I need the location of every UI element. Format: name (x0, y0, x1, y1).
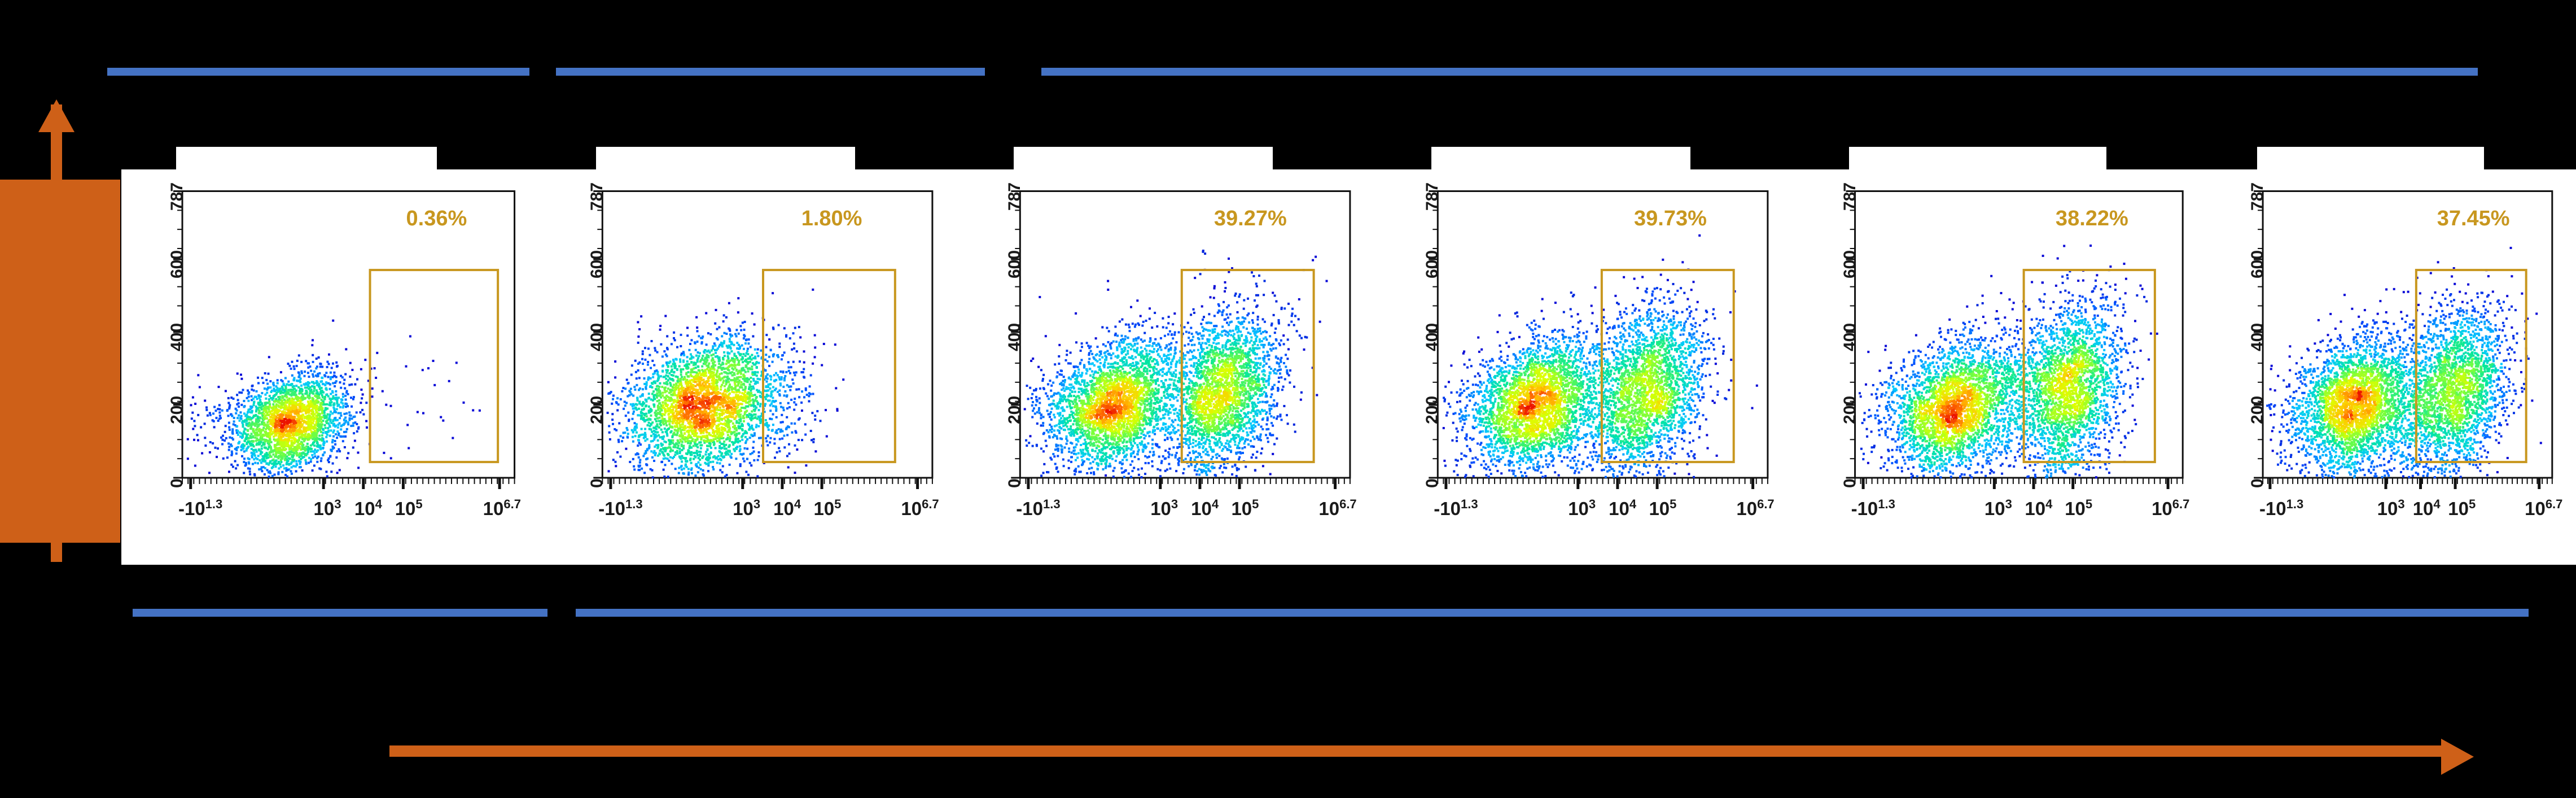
x-tick-base: -10 (1016, 498, 1043, 519)
x-tick-exponent: 4 (2433, 497, 2440, 511)
x-tick-base: 10 (1568, 498, 1589, 519)
y-axis-tick-label: 400 (1423, 323, 1442, 351)
y-axis-tick-label: 200 (1423, 396, 1442, 424)
gate-rectangle[interactable] (370, 270, 498, 462)
x-tick-exponent: 3 (2398, 497, 2404, 511)
flow-plot-panel-3: 0200400600787-101.3103104105106.739.27% (960, 169, 1377, 565)
y-axis-tick-label: 200 (168, 396, 187, 424)
y-axis-tick-label: 600 (1005, 250, 1024, 278)
y-axis-tick-label: 600 (2248, 250, 2267, 278)
flow-plot-panel-2: 0200400600787-101.3103104105106.71.80% (542, 169, 960, 565)
x-tick-base: 10 (483, 498, 504, 519)
x-tick-exponent: 1.3 (625, 497, 643, 511)
x-tick-exponent: 1.3 (1043, 497, 1061, 511)
x-tick-base: 10 (2065, 498, 2086, 519)
top-bar-2 (556, 68, 985, 76)
x-tick-base: -10 (2259, 498, 2286, 519)
y-axis-tick-label: 200 (1841, 396, 1860, 424)
x-tick-base: 10 (1609, 498, 1629, 519)
x-axis-tick-label: 103 (1150, 497, 1178, 520)
density-dots (1859, 245, 2158, 478)
x-tick-base: -10 (1434, 498, 1461, 519)
x-tick-base: 10 (1150, 498, 1171, 519)
x-axis-tick-label: 106.7 (2152, 497, 2189, 520)
x-tick-base: 10 (2377, 498, 2398, 519)
x-tick-base: 10 (2525, 498, 2546, 519)
x-axis-tick-label: 103 (314, 497, 341, 520)
flow-plot-panel-5: 0200400600787-101.3103104105106.738.22% (1795, 169, 2210, 565)
orange-highlight-block (0, 180, 120, 543)
x-tick-base: 10 (1649, 498, 1670, 519)
y-axis-tick-label: 400 (2248, 323, 2267, 351)
x-tick-exponent: 6.7 (503, 497, 521, 511)
y-axis-tick-label: 787 (588, 182, 607, 210)
top-bar-3 (1041, 68, 2478, 76)
x-tick-exponent: 4 (1212, 497, 1219, 511)
x-tick-base: -10 (1851, 498, 1878, 519)
y-axis-tick-label: 0 (1005, 478, 1024, 488)
x-axis-tick-label: 106.7 (483, 497, 521, 520)
horizontal-arrow-head (2441, 739, 2474, 775)
x-axis-tick-label: -101.3 (178, 497, 222, 520)
x-tick-exponent: 1.3 (1461, 497, 1478, 511)
x-axis-tick-label: 103 (1984, 497, 2012, 520)
y-axis-tick-label: 787 (1005, 182, 1024, 210)
x-tick-exponent: 6.7 (2172, 497, 2190, 511)
x-axis-tick-label: -101.3 (1434, 497, 1478, 520)
x-axis-tick-label: 105 (1649, 497, 1676, 520)
y-axis-tick-label: 600 (168, 250, 187, 278)
panel-top-notch (1014, 147, 1273, 171)
x-axis-tick-label: 106.7 (901, 497, 939, 520)
x-tick-exponent: 3 (753, 497, 760, 511)
gate-rectangle[interactable] (763, 270, 895, 462)
x-tick-exponent: 1.3 (2286, 497, 2304, 511)
horizontal-arrow-shaft (389, 745, 2444, 757)
y-axis-tick-label: 0 (1423, 478, 1442, 488)
x-axis-tick-label: -101.3 (598, 497, 642, 520)
x-tick-exponent: 5 (2086, 497, 2092, 511)
x-tick-base: 10 (773, 498, 794, 519)
x-axis-tick-label: 104 (354, 497, 382, 520)
y-axis-tick-label: 200 (2248, 396, 2267, 424)
x-tick-base: 10 (395, 498, 416, 519)
y-axis-tick-label: 600 (1423, 250, 1442, 278)
panel-top-notch (176, 147, 437, 171)
x-tick-base: -10 (178, 498, 205, 519)
y-axis-tick-label: 400 (168, 323, 187, 351)
x-tick-base: 10 (1191, 498, 1212, 519)
x-tick-base: 10 (733, 498, 753, 519)
y-axis-tick-label: 0 (1841, 478, 1860, 488)
x-tick-exponent: 6.7 (1757, 497, 1775, 511)
x-axis-tick-label: 105 (2448, 497, 2476, 520)
x-axis-tick-label: 105 (1231, 497, 1259, 520)
vertical-arrow-head (38, 99, 75, 132)
x-tick-base: 10 (1231, 498, 1252, 519)
x-axis-tick-label: 104 (2025, 497, 2052, 520)
y-axis-tick-label: 400 (1841, 323, 1860, 351)
x-tick-exponent: 3 (334, 497, 341, 511)
y-axis-tick-label: 787 (1841, 182, 1860, 210)
x-axis-tick-label: 106.7 (1736, 497, 1774, 520)
x-tick-exponent: 1.3 (205, 497, 223, 511)
panel-top-notch (1849, 147, 2106, 171)
panel-top-notch (2257, 147, 2484, 171)
y-axis-tick-label: 0 (168, 478, 187, 488)
gate-percentage-label: 39.73% (1634, 207, 1707, 231)
vertical-arrow-stub (51, 539, 62, 562)
x-tick-exponent: 6.7 (1339, 497, 1357, 511)
x-tick-exponent: 5 (1670, 497, 1676, 511)
x-tick-exponent: 6.7 (922, 497, 939, 511)
gate-percentage-label: 38.22% (2056, 207, 2128, 231)
x-axis-tick-label: 103 (2377, 497, 2405, 520)
x-tick-exponent: 3 (1589, 497, 1596, 511)
x-tick-exponent: 3 (2005, 497, 2012, 511)
x-axis-tick-label: 104 (2413, 497, 2441, 520)
x-tick-exponent: 3 (1171, 497, 1178, 511)
top-bar-1 (107, 68, 529, 76)
y-axis-tick-label: 787 (2248, 182, 2267, 210)
x-tick-base: 10 (1736, 498, 1757, 519)
x-axis-tick-label: -101.3 (1016, 497, 1060, 520)
x-tick-exponent: 4 (2045, 497, 2052, 511)
x-axis-tick-label: 105 (2065, 497, 2092, 520)
panel-top-notch (1431, 147, 1690, 171)
x-tick-base: 10 (1318, 498, 1339, 519)
x-tick-base: 10 (354, 498, 375, 519)
x-axis-tick-label: 105 (813, 497, 841, 520)
x-tick-base: 10 (2025, 498, 2045, 519)
x-tick-exponent: 6.7 (2546, 497, 2563, 511)
x-axis-tick-label: -101.3 (2259, 497, 2303, 520)
x-tick-base: -10 (598, 498, 625, 519)
flow-plot-panel-6: 0200400600787-101.3103104105106.737.45% (2210, 169, 2576, 565)
y-axis-tick-label: 787 (1423, 182, 1442, 210)
x-axis-tick-label: 104 (1609, 497, 1636, 520)
y-axis-tick-label: 600 (588, 250, 607, 278)
x-tick-exponent: 5 (1252, 497, 1259, 511)
x-axis-tick-label: 104 (1191, 497, 1219, 520)
y-axis-tick-label: 200 (1005, 396, 1024, 424)
flow-plot-panel-1: 0200400600787-101.3103104105106.70.36% (121, 169, 542, 565)
y-axis-tick-label: 0 (2248, 478, 2267, 488)
x-tick-base: 10 (901, 498, 922, 519)
bottom-bar-2 (576, 609, 2529, 617)
x-axis-tick-label: 105 (395, 497, 423, 520)
x-axis-tick-label: 103 (733, 497, 760, 520)
y-axis-tick-label: 400 (1005, 323, 1024, 351)
x-tick-exponent: 4 (1629, 497, 1636, 511)
gate-percentage-label: 0.36% (406, 207, 467, 231)
gate-percentage-label: 37.45% (2437, 207, 2510, 231)
x-axis-tick-label: 103 (1568, 497, 1596, 520)
gate-percentage-label: 39.27% (1214, 207, 1287, 231)
x-axis-tick-label: 104 (773, 497, 801, 520)
y-axis-tick-label: 0 (588, 478, 607, 488)
y-axis-tick-label: 200 (588, 396, 607, 424)
x-axis-tick-label: -101.3 (1851, 497, 1895, 520)
x-axis-tick-label: 106.7 (2525, 497, 2562, 520)
x-tick-exponent: 4 (794, 497, 801, 511)
y-axis-tick-label: 400 (588, 323, 607, 351)
x-tick-exponent: 5 (2469, 497, 2476, 511)
flow-plot-panel-4: 0200400600787-101.3103104105106.739.73% (1377, 169, 1795, 565)
x-tick-exponent: 1.3 (1878, 497, 1895, 511)
bottom-bar-1 (133, 609, 547, 617)
density-dots (607, 289, 845, 479)
x-tick-exponent: 5 (415, 497, 422, 511)
x-tick-exponent: 4 (375, 497, 382, 511)
density-dots (1024, 250, 1328, 478)
x-tick-base: 10 (2413, 498, 2434, 519)
x-tick-base: 10 (1984, 498, 2005, 519)
x-tick-base: 10 (314, 498, 335, 519)
x-tick-exponent: 5 (834, 497, 841, 511)
y-axis-tick-label: 600 (1841, 250, 1860, 278)
plot-frame (182, 191, 515, 478)
density-dots (2266, 247, 2542, 478)
x-tick-base: 10 (2152, 498, 2172, 519)
gate-percentage-label: 1.80% (801, 207, 862, 231)
panel-top-notch (596, 147, 855, 171)
x-tick-base: 10 (813, 498, 834, 519)
x-axis-tick-label: 106.7 (1318, 497, 1356, 520)
density-dots (187, 320, 481, 478)
y-axis-tick-label: 787 (168, 182, 187, 210)
x-tick-base: 10 (2448, 498, 2469, 519)
